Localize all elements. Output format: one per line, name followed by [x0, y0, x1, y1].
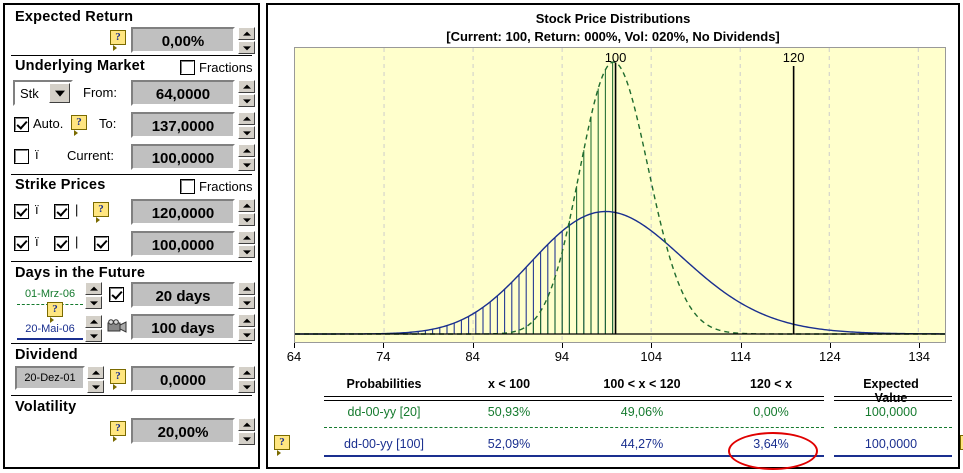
volatility-spinner[interactable]: [238, 418, 255, 445]
strike2-value[interactable]: 100,0000: [131, 231, 235, 257]
row1-cell-1: 49,06%: [621, 405, 663, 419]
col-100-x-120: 100 < x < 120: [603, 377, 680, 391]
market-current-value[interactable]: 100,0000: [131, 144, 235, 170]
x-tick-label: 134: [908, 349, 930, 364]
days-date-end-spinner[interactable]: [85, 315, 102, 342]
market-auto-label: Auto.: [33, 116, 63, 131]
distribution-curve: [295, 212, 945, 334]
row2-cell-3: 100,0000: [865, 437, 917, 451]
expected-return-title: Expected Return: [5, 9, 258, 25]
help-icon[interactable]: ?: [47, 302, 63, 317]
table-header-row: Probabilities x < 100 100 < x < 120 120 …: [294, 377, 954, 397]
days-row1-spinner[interactable]: [238, 282, 255, 309]
header-rule-left: [324, 396, 824, 401]
divider: [11, 343, 252, 344]
days-row2-value[interactable]: 100 days: [131, 314, 235, 340]
strike2-label-a: ï: [35, 234, 39, 249]
x-tick: [383, 343, 384, 348]
days-row-1: 01-Mrz-06 20 days: [5, 281, 258, 311]
dividend-title: Dividend: [5, 347, 258, 363]
application-window: Expected Return ? 0,00% Underlying Marke…: [0, 0, 963, 473]
x-tick: [562, 343, 563, 348]
dividend-row: 20-Dez-01 ? 0,0000: [5, 363, 258, 395]
marker-label-100: 100: [605, 50, 627, 65]
days-date-start-spinner[interactable]: [85, 282, 102, 309]
row2-cell-0: 52,09%: [488, 437, 530, 451]
row2-cell-2: 3,64%: [753, 437, 788, 451]
market-fractions-label: Fractions: [199, 60, 252, 75]
col-x-lt-100: x < 100: [488, 377, 530, 391]
help-icon[interactable]: ?: [274, 435, 290, 450]
distribution-curve: [295, 62, 945, 334]
row1-cell-2: 0,00%: [753, 405, 788, 419]
strike2-label-b: |: [75, 234, 78, 249]
marker-label-120: 120: [783, 50, 805, 65]
col-120-lt-x: 120 < x: [750, 377, 792, 391]
row2-rule-left: [324, 455, 824, 457]
volatility-value[interactable]: 20,00%: [131, 418, 235, 444]
days-row1-value[interactable]: 20 days: [131, 282, 235, 308]
x-tick: [473, 343, 474, 348]
days-row1-checkbox[interactable]: [110, 288, 123, 301]
market-current-spinner[interactable]: [238, 144, 255, 171]
row1-cell-3: 100,0000: [865, 405, 917, 419]
strike-row-2: ï | 100,0000: [5, 229, 258, 261]
volatility-title: Volatility: [5, 399, 258, 415]
strike2-spinner[interactable]: [238, 231, 255, 258]
market-to-row: Auto. ? To: 137,0000: [5, 110, 258, 142]
table-row: dd-00-yy [100] 52,09% 44,27% 3,64% 100,0…: [294, 437, 954, 461]
market-auto-checkbox[interactable]: [15, 118, 28, 131]
market-from-value[interactable]: 64,0000: [131, 80, 235, 106]
chart-title: Stock Price Distributions: [268, 11, 958, 26]
market-type-select[interactable]: Stk: [13, 80, 73, 106]
strike1-checkbox-b[interactable]: [55, 205, 68, 218]
strike1-label-a: ï: [35, 202, 39, 217]
chart-subtitle: [Current: 100, Return: 000%, Vol: 020%, …: [268, 29, 958, 44]
days-row-2: ? 20-Mai-06 100 days: [5, 311, 258, 343]
days-future-title: Days in the Future: [5, 265, 258, 281]
row2-rule-right: [834, 455, 952, 457]
to-label: To:: [99, 116, 116, 131]
x-tick-label: 114: [730, 349, 751, 364]
expected-return-spinner[interactable]: [238, 27, 255, 54]
strike-fractions-checkbox[interactable]: [181, 180, 194, 193]
x-tick-label: 104: [640, 349, 662, 364]
col-probabilities: Probabilities: [346, 377, 421, 391]
current-label: Current:: [67, 148, 114, 163]
x-tick: [651, 343, 652, 348]
strike2-checkbox-b[interactable]: [55, 237, 68, 250]
strike1-value[interactable]: 120,0000: [131, 199, 235, 225]
from-label: From:: [83, 85, 117, 100]
x-tick-label: 94: [555, 349, 569, 364]
x-tick: [919, 343, 920, 348]
x-tick: [294, 343, 295, 348]
parameters-panel: Expected Return ? 0,00% Underlying Marke…: [3, 3, 260, 469]
strike-fractions-label: Fractions: [199, 179, 252, 194]
help-icon[interactable]: ?: [110, 369, 126, 384]
help-icon[interactable]: ?: [93, 202, 109, 217]
market-from-row: Stk From: 64,0000: [5, 78, 258, 110]
market-current-checkbox[interactable]: [15, 150, 28, 163]
probabilities-table: Probabilities x < 100 100 < x < 120 120 …: [294, 377, 954, 445]
dividend-spinner[interactable]: [238, 366, 255, 393]
x-axis: 64748494104114124134: [294, 343, 946, 365]
strike-prices-title: Strike Prices: [5, 177, 105, 193]
strike-prices-header: Strike Prices Fractions: [5, 175, 258, 197]
strike-row-1: ï | ? 120,0000: [5, 197, 258, 229]
header-rule-right: [834, 396, 952, 401]
camera-icon[interactable]: [107, 319, 127, 334]
underlying-market-header: Underlying Market Fractions: [5, 56, 258, 78]
chart-panel: Stock Price Distributions [Current: 100,…: [266, 3, 960, 469]
x-tick: [741, 343, 742, 348]
volatility-row: ? 20,00%: [5, 415, 258, 447]
market-fractions-checkbox[interactable]: [181, 61, 194, 74]
x-tick-label: 124: [819, 349, 841, 364]
expected-return-row: ? 0,00%: [5, 25, 258, 55]
distribution-plot: 100120: [294, 47, 946, 343]
market-current-row: ï Current: 100,0000: [5, 142, 258, 174]
x-tick: [830, 343, 831, 348]
plot-svg: 100120: [295, 48, 945, 342]
help-icon[interactable]: ?: [110, 421, 126, 436]
chevron-down-icon[interactable]: [49, 83, 70, 103]
table-row: dd-00-yy [20] 50,93% 49,06% 0,00% 100,00…: [294, 405, 954, 429]
divider: [11, 261, 252, 262]
market-current-flag-label: ï: [35, 147, 39, 162]
row1-cell-0: 50,93%: [488, 405, 530, 419]
divider: [11, 395, 252, 396]
help-icon[interactable]: ?: [110, 30, 126, 45]
strike1-label-b: |: [75, 202, 78, 217]
help-icon[interactable]: ?: [71, 115, 87, 130]
dividend-date[interactable]: 20-Dez-01: [15, 366, 85, 390]
days-row2-spinner[interactable]: [238, 314, 255, 341]
strike1-checkbox-a[interactable]: [15, 205, 28, 218]
x-tick-label: 64: [287, 349, 301, 364]
strike2-checkbox-c[interactable]: [95, 237, 108, 250]
x-tick-label: 84: [465, 349, 479, 364]
row1-rule-right: [834, 427, 952, 428]
market-to-value[interactable]: 137,0000: [131, 112, 235, 138]
market-from-spinner[interactable]: [238, 80, 255, 107]
dividend-date-spinner[interactable]: [87, 366, 104, 393]
row2-label: dd-00-yy [100]: [344, 437, 424, 451]
row1-label: dd-00-yy [20]: [348, 405, 421, 419]
days-date-end[interactable]: 20-Mai-06: [17, 319, 83, 340]
market-to-spinner[interactable]: [238, 112, 255, 139]
x-tick-label: 74: [376, 349, 390, 364]
underlying-market-title: Underlying Market: [5, 58, 145, 74]
strike1-spinner[interactable]: [238, 199, 255, 226]
expected-return-value[interactable]: 0,00%: [131, 27, 235, 53]
row1-rule-left: [324, 427, 824, 428]
market-type-value: Stk: [20, 86, 39, 101]
dividend-value[interactable]: 0,0000: [131, 366, 235, 392]
strike2-checkbox-a[interactable]: [15, 237, 28, 250]
row2-cell-1: 44,27%: [621, 437, 663, 451]
